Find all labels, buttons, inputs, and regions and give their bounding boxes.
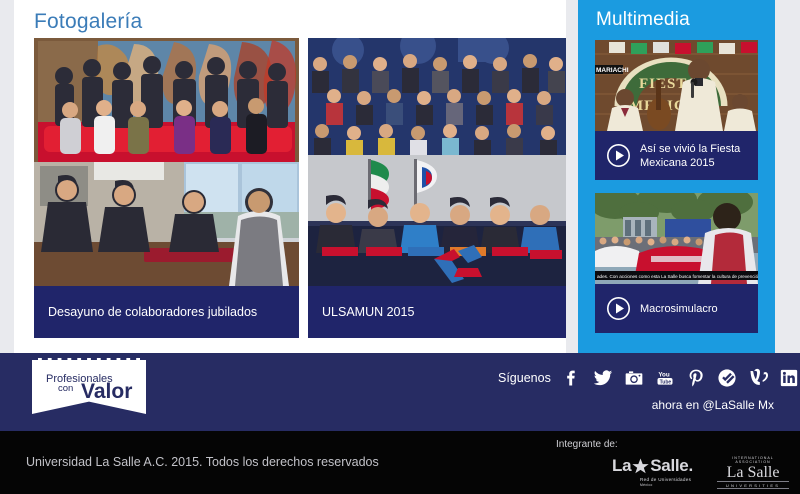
gallery-photo-bottom bbox=[308, 155, 566, 286]
multimedia-bar: Así se vivió la Fiesta Mexicana 2015 bbox=[595, 131, 758, 180]
social-handle: ahora en @LaSalle Mx bbox=[652, 398, 774, 412]
gallery-card[interactable]: Desayuno de colaboradores jubilados bbox=[34, 38, 299, 338]
linkedin-icon[interactable] bbox=[779, 368, 799, 388]
logo-line-3: Valor bbox=[81, 380, 132, 404]
youtube-icon[interactable]: You Tube bbox=[655, 368, 675, 388]
gallery-photo-bottom bbox=[34, 162, 299, 286]
multimedia-thumbnail: FIESTA MEXICA MARIACHI bbox=[595, 40, 758, 131]
logo-name-b: Salle. bbox=[650, 456, 693, 476]
follow-label: Síguenos bbox=[498, 371, 551, 385]
multimedia-item[interactable]: FIESTA MEXICA MARIACHI bbox=[595, 40, 758, 180]
ticker-text: ades. Con acciones como esta La Salle bu… bbox=[597, 274, 758, 279]
play-icon[interactable] bbox=[606, 296, 631, 321]
svg-text:MARIACHI: MARIACHI bbox=[596, 67, 629, 74]
gallery-list: Desayuno de colaboradores jubilados bbox=[34, 38, 566, 338]
gallery-caption: ULSAMUN 2015 bbox=[308, 286, 566, 338]
social-strip: Profesionales con Valor bbox=[0, 353, 800, 431]
gallery-caption: Desayuno de colaboradores jubilados bbox=[34, 286, 299, 338]
svg-text:You: You bbox=[658, 371, 670, 378]
multimedia-thumbnail: ades. Con acciones como esta La Salle bu… bbox=[595, 193, 758, 284]
gallery-photo-top bbox=[308, 38, 566, 155]
bottom-bar: Universidad La Salle A.C. 2015. Todos lo… bbox=[0, 431, 800, 494]
profesionales-con-valor-logo: Profesionales con Valor bbox=[32, 358, 146, 414]
logo-intl-bottom: UNIVERSITIES bbox=[717, 481, 789, 489]
instagram-icon[interactable] bbox=[624, 368, 644, 388]
star-icon bbox=[632, 458, 649, 475]
fotogaleria-panel: Fotogalería bbox=[14, 0, 566, 353]
gallery-photo-top bbox=[34, 38, 299, 162]
svg-text:Tube: Tube bbox=[659, 379, 671, 385]
multimedia-label: Macrosimulacro bbox=[640, 302, 718, 316]
follow-row: Síguenos You Tube bbox=[498, 368, 799, 388]
logo-line-2: con bbox=[58, 383, 73, 394]
la-salle-mexico-logo: La Salle. Red de Universidades México bbox=[612, 456, 696, 487]
gallery-card[interactable]: ULSAMUN 2015 bbox=[308, 38, 566, 338]
multimedia-title: Multimedia bbox=[578, 0, 775, 31]
logo-sub-1: Red de Universidades bbox=[640, 477, 696, 482]
content-area: Fotogalería bbox=[0, 0, 800, 353]
logo-name-a: La bbox=[612, 456, 631, 476]
facebook-icon[interactable] bbox=[562, 368, 582, 388]
footer-logos: La Salle. Red de Universidades México IN… bbox=[612, 456, 789, 489]
vine-icon[interactable] bbox=[748, 368, 768, 388]
multimedia-bar: Macrosimulacro bbox=[595, 284, 758, 333]
logo-intl-mid: La Salle bbox=[717, 464, 789, 481]
page-root: Fotogalería bbox=[0, 0, 800, 494]
page-title: Fotogalería bbox=[14, 0, 566, 34]
member-label: Integrante de: bbox=[556, 439, 618, 450]
multimedia-panel: Multimedia bbox=[578, 0, 775, 353]
logo-intl-top: INTERNATIONAL ASSOCIATION bbox=[717, 456, 789, 464]
multimedia-label: Así se vivió la Fiesta Mexicana 2015 bbox=[640, 142, 758, 170]
foursquare-icon[interactable] bbox=[717, 368, 737, 388]
pinterest-icon[interactable] bbox=[686, 368, 706, 388]
play-icon[interactable] bbox=[606, 143, 631, 168]
twitter-icon[interactable] bbox=[593, 368, 613, 388]
la-salle-international-logo: INTERNATIONAL ASSOCIATION La Salle UNIVE… bbox=[717, 456, 789, 489]
multimedia-item[interactable]: ades. Con acciones como esta La Salle bu… bbox=[595, 193, 758, 333]
copyright-text: Universidad La Salle A.C. 2015. Todos lo… bbox=[26, 455, 379, 469]
logo-sub-2: México bbox=[640, 483, 696, 487]
